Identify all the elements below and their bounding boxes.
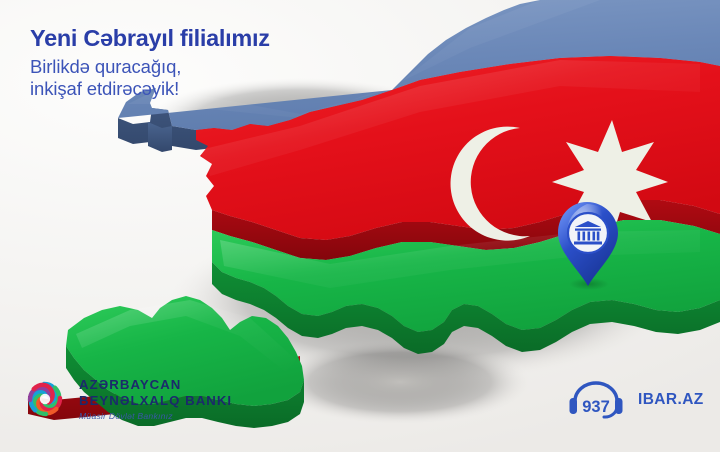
subtitle-line-1: Birlikdə quracağıq, <box>30 57 270 76</box>
bank-logo-text: AZƏRBAYCAN BEYNƏLXALQ BANKI Müasir Dövlə… <box>79 377 232 421</box>
branch-location-pin[interactable] <box>553 200 623 290</box>
contact-block[interactable]: 937 IBAR.AZ <box>566 381 704 419</box>
headset-earpad-right <box>615 398 623 414</box>
bank-tagline: Müasir Dövlət Bankınız <box>79 411 232 421</box>
headline-block: Yeni Cəbrayıl filialımız Birlikdə quraca… <box>30 26 270 100</box>
bank-name-line-2: BEYNƏLXALQ BANKI <box>79 393 232 409</box>
headset-icon[interactable]: 937 <box>566 381 626 419</box>
bank-logo[interactable]: AZƏRBAYCAN BEYNƏLXALQ BANKI Müasir Dövlə… <box>20 374 232 424</box>
headset-earpad-left <box>570 398 578 414</box>
subtitle-line-2: inkişaf etdirəcəyik! <box>30 79 270 98</box>
map-shadow-exclave <box>270 340 530 424</box>
bank-logo-rosette-icon <box>20 374 70 424</box>
contact-phone: 937 <box>582 398 610 416</box>
promotional-banner: Yeni Cəbrayıl filialımız Birlikdə quraca… <box>0 0 720 452</box>
bank-name-line-1: AZƏRBAYCAN <box>79 377 232 393</box>
website-label[interactable]: IBAR.AZ <box>638 391 704 409</box>
page-title: Yeni Cəbrayıl filialımız <box>30 26 270 50</box>
